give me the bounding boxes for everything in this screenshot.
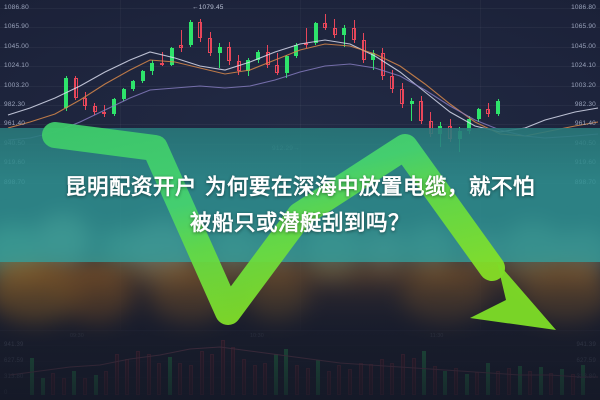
candle-body — [208, 38, 212, 53]
candle-body — [294, 45, 298, 57]
candle-body — [486, 109, 490, 114]
candle-body — [323, 23, 327, 28]
candle-body — [102, 112, 106, 114]
candle-body — [179, 45, 183, 48]
candle-wick — [104, 105, 105, 117]
candle-body — [266, 52, 270, 65]
candle-body — [170, 48, 174, 64]
candle-body — [131, 81, 135, 89]
candle-body — [390, 76, 394, 89]
candle-body — [246, 60, 250, 72]
candle-body — [122, 89, 126, 99]
candle-body — [314, 23, 318, 43]
candle-body — [141, 71, 145, 81]
candle-body — [400, 89, 404, 104]
candle-body — [342, 28, 346, 35]
candle-body — [333, 28, 337, 35]
candle-body — [419, 101, 423, 121]
candle-body — [352, 28, 356, 40]
candle-body — [477, 109, 481, 119]
candle-body — [227, 47, 231, 62]
candle-body — [112, 99, 116, 114]
price-axis-label: 982.30 — [575, 102, 596, 109]
candle-body — [410, 101, 414, 104]
candle-body — [237, 61, 241, 71]
price-axis-label: 982.30 — [4, 102, 25, 109]
candle-body — [362, 40, 366, 60]
price-axis-label: 1086.80 — [4, 5, 29, 12]
price-axis-label: 1045.00 — [4, 44, 29, 51]
candle-body — [304, 43, 308, 45]
candle-body — [74, 78, 78, 99]
price-axis-label: 1086.80 — [571, 5, 596, 12]
candle-body — [371, 53, 375, 60]
candle-body — [285, 56, 289, 72]
candle-body — [256, 52, 260, 60]
price-axis-label: 961.40 — [4, 121, 25, 128]
banner-image: 1086.801065.901045.001024.101003.20982.3… — [0, 0, 600, 400]
price-axis-label: 1065.90 — [571, 24, 596, 31]
candle-body — [64, 78, 68, 108]
candle-body — [93, 106, 97, 113]
price-axis-label: 1024.10 — [4, 63, 29, 70]
candle-body — [198, 22, 202, 38]
annotation-high: ←1079.45 — [192, 5, 224, 12]
headline-line-1: 昆明配资开户 为何要在深海中放置电缆，就不怕 — [0, 170, 600, 206]
candle-body — [381, 53, 385, 76]
price-axis-label: 1003.20 — [4, 83, 29, 90]
candle-body — [496, 101, 500, 114]
candle-body — [83, 98, 87, 105]
candle-body — [218, 47, 222, 54]
candle-body — [275, 65, 279, 73]
dark-veil — [0, 262, 600, 400]
price-axis-label: 1003.20 — [571, 83, 596, 90]
price-axis-label: 961.40 — [575, 121, 596, 128]
candle-wick — [181, 30, 182, 51]
price-axis-label: 1024.10 — [571, 63, 596, 70]
candle-body — [189, 22, 193, 45]
price-axis-label: 1045.00 — [571, 44, 596, 51]
candle-body — [160, 63, 164, 65]
price-axis-label: 1065.90 — [4, 24, 29, 31]
headline: 昆明配资开户 为何要在深海中放置电缆，就不怕 被船只或潜艇刮到吗？ — [0, 170, 600, 242]
headline-line-2: 被船只或潜艇刮到吗？ — [0, 206, 600, 242]
candle-body — [150, 63, 154, 71]
